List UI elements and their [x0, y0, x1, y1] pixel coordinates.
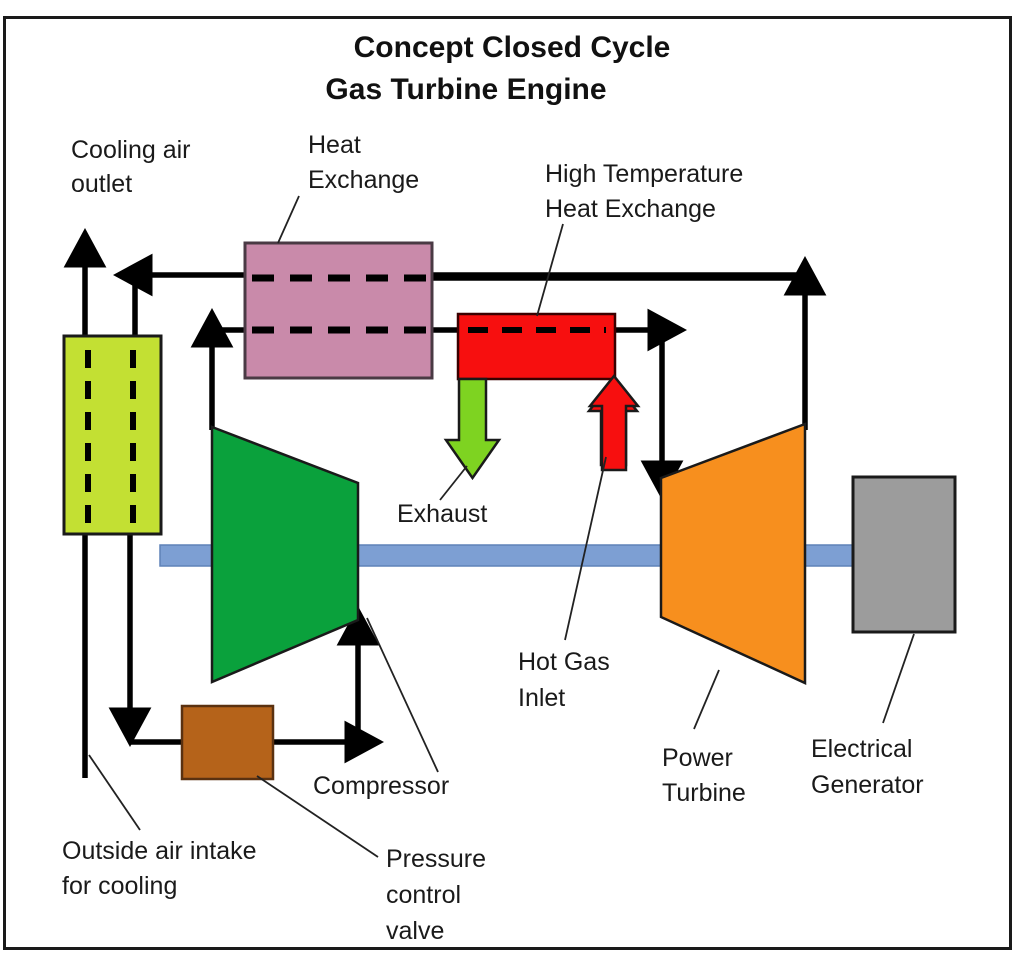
label-heat-exchange-line2: Exchange [308, 166, 419, 194]
leader-power-turbine [694, 670, 719, 729]
leader-exhaust [440, 466, 467, 500]
label-hot-gas-inlet-line1: Hot Gas [518, 648, 610, 676]
label-exhaust: Exhaust [397, 500, 487, 528]
leader-generator [883, 634, 914, 723]
label-hot-gas-inlet-line2: Inlet [518, 684, 565, 712]
label-outside-air-intake-line1: Outside air intake [62, 837, 257, 865]
power-turbine [661, 424, 805, 683]
label-power-turbine-line1: Power [662, 744, 733, 772]
leader-compressor [367, 618, 438, 772]
label-pressure-control-valve-line2: control [386, 881, 461, 909]
label-outside-air-intake-line2: for cooling [62, 872, 177, 900]
leader-outside-air [89, 755, 140, 830]
label-cooling-air-outlet-line2: outlet [71, 170, 132, 198]
leader-heat-exchange [278, 196, 299, 243]
air-cooler [64, 336, 161, 534]
hot-gas-inlet-arrow [589, 376, 638, 470]
label-electrical-generator-line2: Generator [811, 771, 924, 799]
label-high-temp-heat-exchange-line2: Heat Exchange [545, 195, 716, 223]
diagram-canvas: Concept Closed Cycle Gas Turbine Engine [0, 0, 1024, 978]
label-pressure-control-valve-line3: valve [386, 917, 444, 945]
electrical-generator [853, 477, 955, 632]
page-title-line1: Concept Closed Cycle [354, 31, 671, 64]
label-power-turbine-line2: Turbine [662, 779, 746, 807]
label-pressure-control-valve-line1: Pressure [386, 845, 486, 873]
closed-cycle-gas-turbine-diagram: Concept Closed Cycle Gas Turbine Engine [0, 0, 1024, 978]
label-compressor: Compressor [313, 772, 449, 800]
pressure-control-valve [182, 706, 273, 779]
high-temperature-heat-exchange [458, 314, 615, 379]
label-cooling-air-outlet-line1: Cooling air [71, 136, 191, 164]
label-electrical-generator-line1: Electrical [811, 735, 912, 763]
label-high-temp-heat-exchange-line1: High Temperature [545, 160, 743, 188]
compressor [212, 427, 358, 682]
leader-high-temp [537, 224, 563, 316]
page-title-line2: Gas Turbine Engine [325, 73, 606, 106]
exhaust-arrow [446, 379, 499, 478]
label-heat-exchange-line1: Heat [308, 131, 361, 159]
heat-exchange [245, 243, 432, 378]
